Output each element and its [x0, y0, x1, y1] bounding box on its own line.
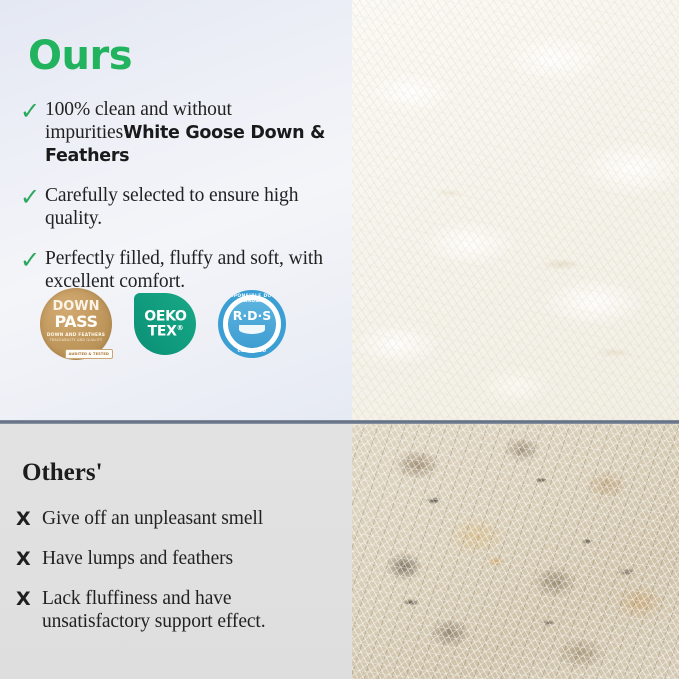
downpass-line1: DOWN	[52, 300, 99, 313]
page-title: Ours	[28, 36, 132, 76]
x-icon: X	[16, 590, 40, 609]
list-item-text: 100% clean and without impuritiesWhite G…	[45, 98, 344, 167]
dirty-impure-feathers-photo	[352, 424, 679, 679]
list-item-text: Carefully selected to ensure high qualit…	[45, 184, 344, 230]
others-text-column: Others' X Give off an unpleasant smell X…	[0, 424, 352, 679]
list-item: X Lack fluffiness and have unsatisfactor…	[16, 587, 344, 633]
comparison-infographic: Ours ✓ 100% clean and without impurities…	[0, 0, 679, 679]
list-item: ✓ Carefully selected to ensure high qual…	[20, 184, 344, 230]
ours-text-column: Ours ✓ 100% clean and without impurities…	[0, 0, 352, 420]
ours-panel: Ours ✓ 100% clean and without impurities…	[0, 0, 679, 420]
oeko-tex-label: OEKO TEX®	[144, 309, 186, 338]
feather-icon	[239, 325, 265, 334]
dirty-feathers-photo	[352, 424, 679, 679]
list-item: ✓ 100% clean and without impuritiesWhite…	[20, 98, 344, 167]
check-icon: ✓	[20, 185, 44, 209]
certification-badges: DOWN PASS DOWN AND FEATHERS TRACEABILITY…	[40, 288, 286, 360]
list-item: X Have lumps and feathers	[16, 547, 344, 570]
list-item-text: Give off an unpleasant smell	[42, 507, 263, 530]
list-item-text: Lack fluffiness and have unsatisfactory …	[42, 587, 344, 633]
downpass-audited-tag: AUDITED & TESTED	[65, 349, 113, 359]
list-item-text: Have lumps and feathers	[42, 547, 233, 570]
list-item-text: Perfectly filled, fluffy and soft, with …	[45, 247, 344, 293]
x-icon: X	[16, 550, 40, 569]
check-icon: ✓	[20, 99, 44, 123]
clean-down-photo	[352, 0, 679, 420]
ours-feature-list: ✓ 100% clean and without impuritiesWhite…	[20, 98, 344, 310]
registered-mark: ®	[176, 323, 183, 331]
others-drawback-list: X Give off an unpleasant smell X Have lu…	[16, 507, 344, 650]
clean-white-goose-down-photo	[352, 0, 679, 420]
downpass-sub2: TRACEABILITY AND QUALITY	[50, 339, 103, 343]
check-icon: ✓	[20, 248, 44, 272]
rds-badge: R·D·S RESPONSIBLE DOWN STANDARD CERTIFIE…	[218, 290, 286, 358]
downpass-badge: DOWN PASS DOWN AND FEATHERS TRACEABILITY…	[40, 288, 112, 360]
rds-arc-top-label: RESPONSIBLE DOWN STANDARD	[218, 294, 286, 304]
others-title: Others'	[22, 460, 103, 485]
rds-center-label: R·D·S	[233, 310, 272, 323]
x-icon: X	[16, 510, 40, 529]
oeko-line2: TEX®	[144, 324, 186, 339]
oeko-line1: OEKO	[144, 309, 186, 324]
downpass-sub1: DOWN AND FEATHERS	[47, 333, 105, 338]
oeko-tex-badge: OEKO TEX®	[134, 293, 196, 355]
rds-arc-bottom-label: CERTIFIED	[218, 349, 286, 354]
list-item: X Give off an unpleasant smell	[16, 507, 344, 530]
list-item: ✓ Perfectly filled, fluffy and soft, wit…	[20, 247, 344, 293]
others-panel: Others' X Give off an unpleasant smell X…	[0, 424, 679, 679]
downpass-line2: PASS	[55, 314, 98, 330]
